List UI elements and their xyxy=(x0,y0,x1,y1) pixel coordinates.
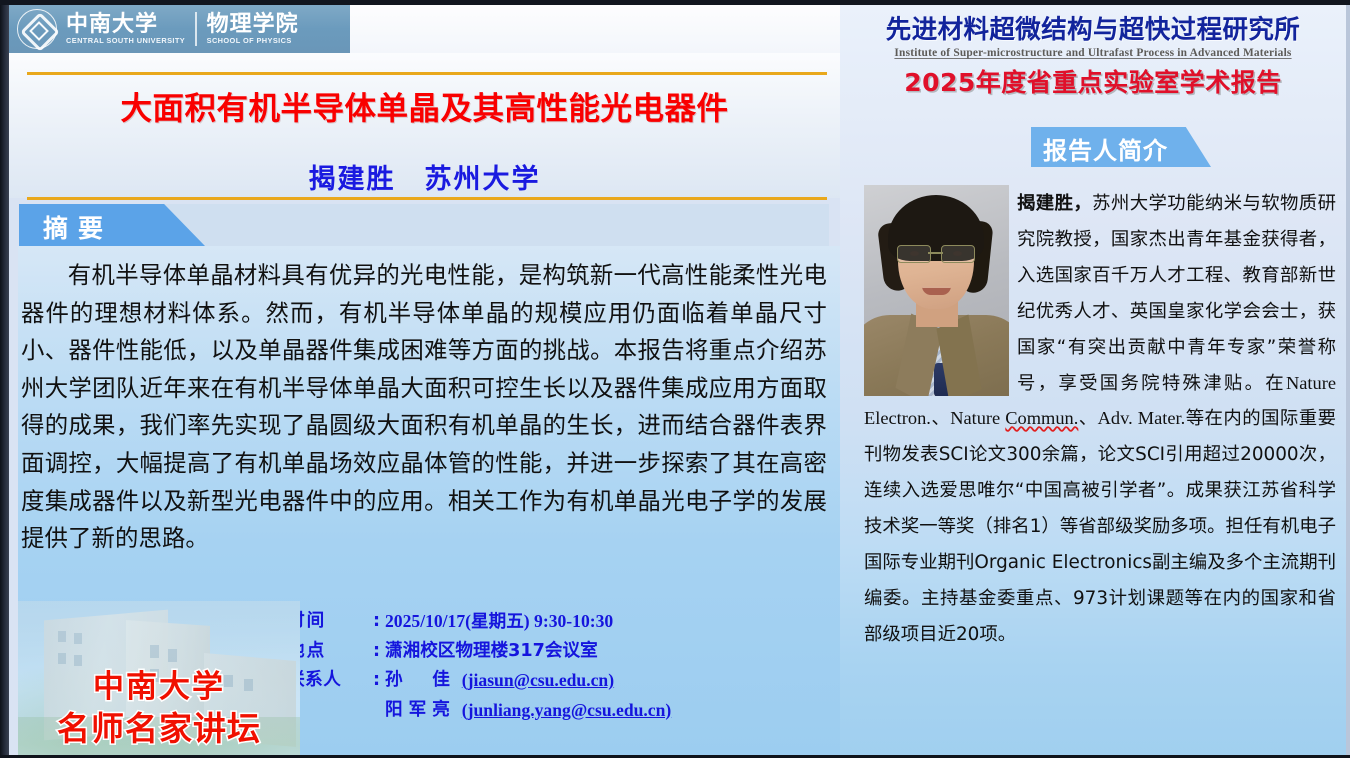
right-border-strip xyxy=(1346,0,1350,758)
bio-banner: 报告人简介 xyxy=(1031,127,1211,167)
university-logo-bar: 中南大学 CENTRAL SOUTH UNIVERSITY 物理学院 SCHOO… xyxy=(9,5,350,53)
gold-divider-top xyxy=(27,72,827,75)
header-filler xyxy=(350,5,840,53)
institute-name-en: Institute of Super-microstructure and Ul… xyxy=(840,47,1346,59)
university-emblem-icon xyxy=(17,9,57,49)
gold-divider-abstract xyxy=(27,197,827,200)
university-name-cn: 中南大学 xyxy=(66,13,185,36)
bio-speaker-name: 揭建胜， xyxy=(1017,193,1092,214)
contact-2-email[interactable]: (junliang.yang@csu.edu.cn) xyxy=(462,696,671,726)
place-colon: : xyxy=(373,637,385,667)
contact-1-name: 孙 佳 xyxy=(385,666,456,696)
logo-divider xyxy=(195,12,197,46)
forum-label-line-1: 中南大学 xyxy=(18,667,300,708)
top-border xyxy=(0,0,1350,5)
seminar-poster: 中南大学 CENTRAL SOUTH UNIVERSITY 物理学院 SCHOO… xyxy=(0,0,1350,758)
talk-title: 大面积有机半导体单晶及其高性能光电器件 xyxy=(9,83,840,129)
university-name-block: 中南大学 CENTRAL SOUTH UNIVERSITY xyxy=(66,13,185,46)
contact-1-email[interactable]: (jiasun@csu.edu.cn) xyxy=(462,666,614,696)
time-colon: : xyxy=(373,607,385,637)
contact-colon: : xyxy=(373,666,385,696)
school-name-block: 物理学院 SCHOOL OF PHYSICS xyxy=(207,13,299,46)
contact-2-name: 阳军亮 xyxy=(385,696,456,726)
abstract-text: 有机半导体单晶材料具有优异的光电性能，是构筑新一代高性能柔性光电器件的理想材料体… xyxy=(21,257,827,558)
university-name-en: CENTRAL SOUTH UNIVERSITY xyxy=(66,37,185,46)
school-name-cn: 物理学院 xyxy=(207,13,299,36)
right-column: 先进材料超微结构与超快过程研究所 Institute of Super-micr… xyxy=(840,5,1346,758)
school-name-en: SCHOOL OF PHYSICS xyxy=(207,37,299,46)
institute-header: 先进材料超微结构与超快过程研究所 Institute of Super-micr… xyxy=(840,9,1346,99)
time-value: 2025/10/17(星期五) 9:30-10:30 xyxy=(385,607,613,637)
detail-row-place: 地点 : 潇湘校区物理楼317会议室 xyxy=(287,637,832,667)
speaker-bio-text: 揭建胜，苏州大学功能纳米与软物质研究院教授，国家杰出青年基金获得者，入选国家百千… xyxy=(864,186,1336,653)
institute-name-cn: 先进材料超微结构与超快过程研究所 xyxy=(840,9,1346,46)
bio-label: 报告人简介 xyxy=(1043,131,1168,166)
bio-journal-b-spellcheck: Commun. xyxy=(1005,408,1078,428)
abstract-label: 摘要 xyxy=(43,209,113,245)
place-value: 潇湘校区物理楼317会议室 xyxy=(385,637,598,667)
campus-building-photo: 中南大学 名师名家讲坛 xyxy=(18,601,300,758)
detail-row-contact-1: 联系人 : 孙 佳 (jiasun@csu.edu.cn) xyxy=(287,666,832,696)
bio-part-1: 苏州大学功能纳米与软物质研究院教授，国家杰出青年基金获得者，入选国家百千万人才工… xyxy=(1017,193,1336,394)
bio-journal-c: Adv. Mater. xyxy=(1098,408,1186,428)
event-details: 时间 : 2025/10/17(星期五) 9:30-10:30 地点 : 潇湘校… xyxy=(287,607,832,725)
detail-row-time: 时间 : 2025/10/17(星期五) 9:30-10:30 xyxy=(287,607,832,637)
bio-sep-1: 、 xyxy=(931,408,950,429)
left-border-strip xyxy=(0,0,9,758)
bio-sep-2: 、 xyxy=(1078,408,1097,429)
talk-speaker: 揭建胜 苏州大学 xyxy=(9,157,840,196)
left-column: 中南大学 CENTRAL SOUTH UNIVERSITY 物理学院 SCHOO… xyxy=(9,5,840,758)
bio-text-photo-wrap xyxy=(864,186,1017,398)
bio-part-2: 等在内的国际重要刊物发表SCI论文300余篇，论文SCI引用超过20000次，连… xyxy=(864,408,1336,644)
detail-row-contact-2: 阳军亮 (junliang.yang@csu.edu.cn) xyxy=(287,696,832,726)
lecture-series-title: 2025年度省重点实验室学术报告 xyxy=(840,63,1346,99)
bio-journal-b: Nature xyxy=(950,408,1005,428)
forum-label: 中南大学 名师名家讲坛 xyxy=(18,667,300,749)
forum-label-line-2: 名师名家讲坛 xyxy=(18,708,300,749)
